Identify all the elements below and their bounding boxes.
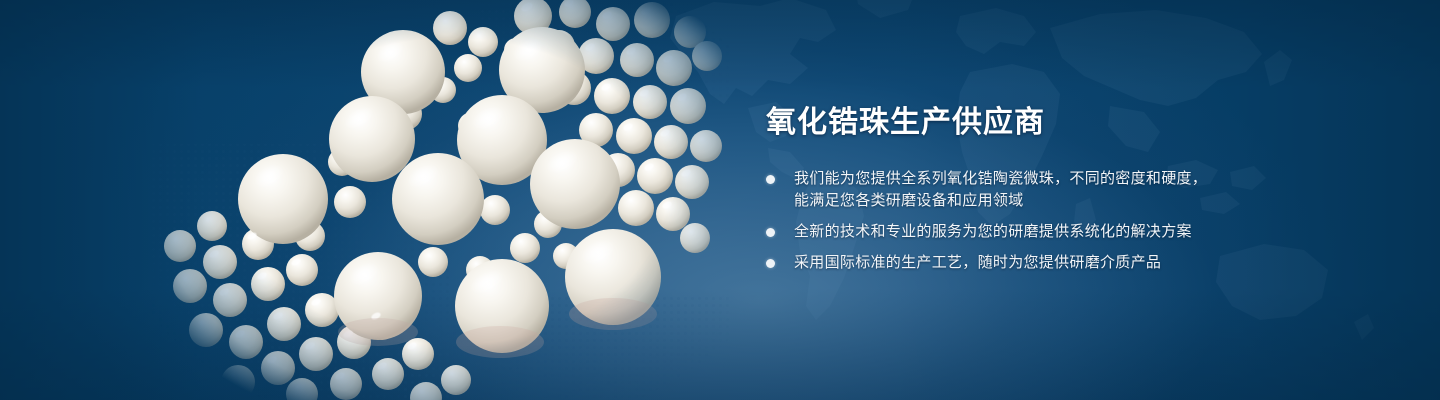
zirconia-beads-photo bbox=[150, 0, 730, 400]
bullet-dot-icon bbox=[766, 175, 775, 184]
list-item-line-1: 我们能为您提供全系列氧化锆陶瓷微珠，不同的密度和硬度， bbox=[794, 170, 1207, 187]
feature-list: 我们能为您提供全系列氧化锆陶瓷微珠，不同的密度和硬度， 能满足您各类研磨设备和应… bbox=[762, 168, 1282, 274]
list-item-line-1: 采用国际标准的生产工艺，随时为您提供研磨介质产品 bbox=[794, 254, 1161, 271]
bullet-dot-icon bbox=[766, 228, 775, 237]
list-item-line-2: 能满足您各类研磨设备和应用领域 bbox=[794, 190, 1282, 212]
list-item-line-1: 全新的技术和专业的服务为您的研磨提供系统化的解决方案 bbox=[794, 223, 1192, 240]
bullet-dot-icon bbox=[766, 259, 775, 268]
banner-copy: 氧化锆珠生产供应商 我们能为您提供全系列氧化锆陶瓷微珠，不同的密度和硬度， 能满… bbox=[762, 104, 1282, 274]
list-item: 我们能为您提供全系列氧化锆陶瓷微珠，不同的密度和硬度， 能满足您各类研磨设备和应… bbox=[762, 168, 1282, 212]
list-item: 采用国际标准的生产工艺，随时为您提供研磨介质产品 bbox=[762, 252, 1282, 274]
hero-banner: 氧化锆珠生产供应商 我们能为您提供全系列氧化锆陶瓷微珠，不同的密度和硬度， 能满… bbox=[0, 0, 1440, 400]
page-title: 氧化锆珠生产供应商 bbox=[766, 104, 1282, 142]
list-item: 全新的技术和专业的服务为您的研磨提供系统化的解决方案 bbox=[762, 221, 1282, 243]
